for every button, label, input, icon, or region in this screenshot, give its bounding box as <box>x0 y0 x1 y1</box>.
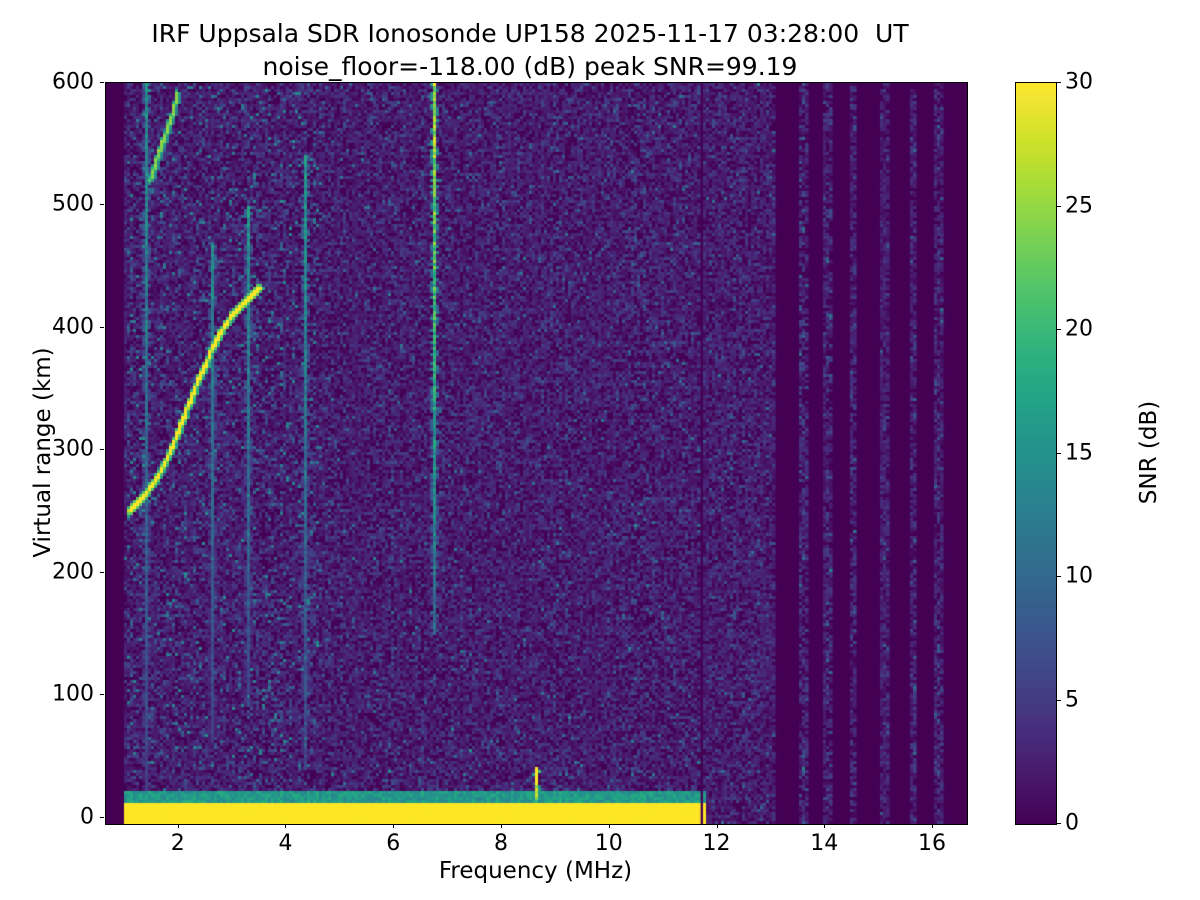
colorbar-gradient <box>1016 83 1056 824</box>
x-tick-label: 6 <box>386 831 400 856</box>
colorbar-tick-mark <box>1057 82 1061 83</box>
x-tick-label: 8 <box>494 831 508 856</box>
ionogram-figure: IRF Uppsala SDR Ionosonde UP158 2025-11-… <box>0 0 1200 900</box>
title-line-1: IRF Uppsala SDR Ionosonde UP158 2025-11-… <box>0 18 1060 51</box>
x-tick-mark <box>932 824 933 828</box>
colorbar-tick-label: 20 <box>1065 317 1093 342</box>
colorbar-tick-mark <box>1057 329 1061 330</box>
x-tick-label: 12 <box>703 831 731 856</box>
y-tick-mark <box>100 694 104 695</box>
y-tick-mark <box>100 327 104 328</box>
y-tick-label: 200 <box>52 559 94 584</box>
y-tick-label: 400 <box>52 314 94 339</box>
title-line-2: noise_floor=-118.00 (dB) peak SNR=99.19 <box>0 51 1060 84</box>
colorbar[interactable] <box>1015 82 1057 825</box>
x-tick-mark <box>609 824 610 828</box>
y-axis-label: Virtual range (km) <box>30 82 56 823</box>
x-tick-label: 14 <box>810 831 838 856</box>
colorbar-tick-mark <box>1057 576 1061 577</box>
figure-title: IRF Uppsala SDR Ionosonde UP158 2025-11-… <box>0 18 1060 83</box>
ionogram-plot-area[interactable] <box>105 82 968 825</box>
ionogram-heatmap[interactable] <box>106 83 967 824</box>
y-tick-label: 500 <box>52 192 94 217</box>
colorbar-tick-mark <box>1057 206 1061 207</box>
colorbar-tick-mark <box>1057 700 1061 701</box>
x-tick-label: 2 <box>171 831 185 856</box>
y-tick-mark <box>100 204 104 205</box>
colorbar-tick-label: 30 <box>1065 70 1093 95</box>
colorbar-label: SNR (dB) <box>1136 82 1162 823</box>
colorbar-tick-label: 15 <box>1065 440 1093 465</box>
x-tick-mark <box>178 824 179 828</box>
x-axis-label: Frequency (MHz) <box>105 858 966 884</box>
y-tick-label: 0 <box>80 804 94 829</box>
x-tick-mark <box>393 824 394 828</box>
y-tick-label: 600 <box>52 70 94 95</box>
x-tick-label: 10 <box>595 831 623 856</box>
colorbar-tick-mark <box>1057 823 1061 824</box>
colorbar-tick-label: 0 <box>1065 811 1079 836</box>
x-tick-mark <box>501 824 502 828</box>
y-tick-mark <box>100 82 104 83</box>
colorbar-tick-label: 5 <box>1065 687 1079 712</box>
x-tick-label: 4 <box>278 831 292 856</box>
y-tick-label: 100 <box>52 682 94 707</box>
y-tick-mark <box>100 449 104 450</box>
colorbar-tick-label: 10 <box>1065 564 1093 589</box>
x-tick-mark <box>717 824 718 828</box>
y-tick-mark <box>100 572 104 573</box>
x-tick-label: 16 <box>918 831 946 856</box>
y-tick-mark <box>100 817 104 818</box>
x-tick-mark <box>824 824 825 828</box>
colorbar-tick-label: 25 <box>1065 193 1093 218</box>
colorbar-tick-mark <box>1057 453 1061 454</box>
y-tick-label: 300 <box>52 437 94 462</box>
x-tick-mark <box>285 824 286 828</box>
